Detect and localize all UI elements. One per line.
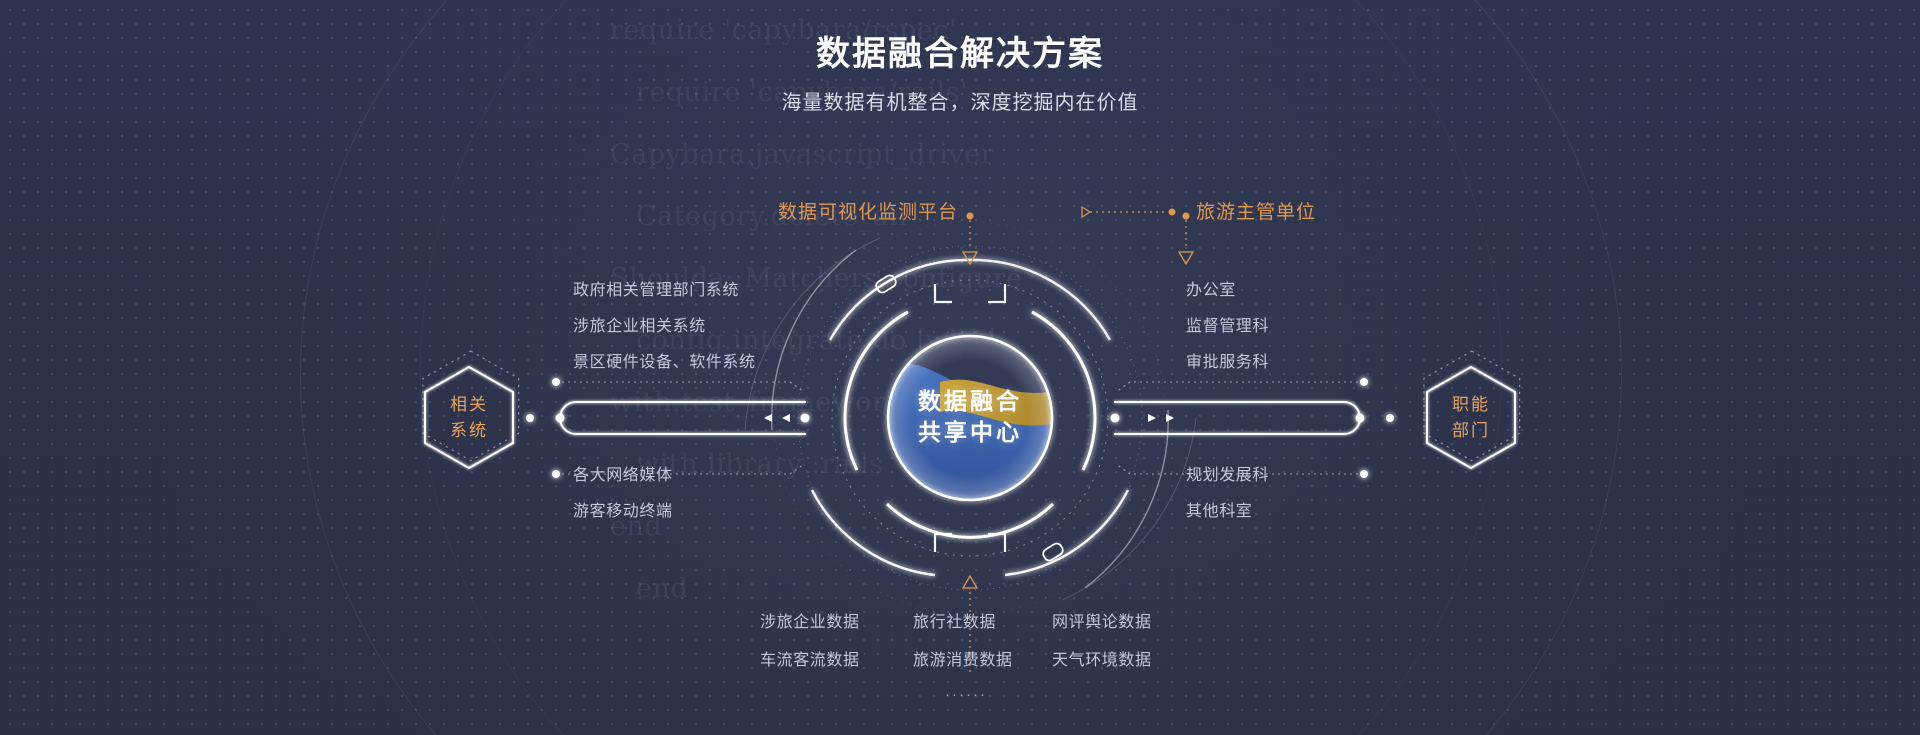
- right-label-0: 办公室: [1186, 283, 1236, 299]
- hexagon-right-line1: 职能: [1411, 392, 1531, 418]
- bottom-label-r2c0: 车流客流数据: [760, 653, 860, 669]
- left-label-3: 各大网络媒体: [573, 468, 673, 484]
- hexagon-left-line2: 系统: [409, 418, 529, 444]
- bottom-label-r1c2: 网评舆论数据: [1052, 615, 1152, 631]
- core-sphere-label: 数据融合 共享中心: [870, 386, 1070, 448]
- right-label-1: 监督管理科: [1186, 319, 1269, 335]
- core-label-line1: 数据融合: [870, 386, 1070, 417]
- right-connector-bus: [1111, 378, 1395, 478]
- right-label-2: 审批服务科: [1186, 355, 1269, 371]
- left-label-0: 政府相关管理部门系统: [573, 283, 739, 299]
- top-orange-connectors: [963, 207, 1193, 264]
- core-label-line2: 共享中心: [870, 417, 1070, 448]
- bottom-label-r2c1: 旅游消费数据: [913, 653, 1013, 669]
- node-visualization-platform[interactable]: 数据可视化监测平台: [778, 203, 958, 222]
- left-label-4: 游客移动终端: [573, 504, 673, 520]
- hexagon-right-line2: 部门: [1411, 418, 1531, 444]
- hexagon-left-label: 相关 系统: [409, 392, 529, 444]
- node-tourism-authority[interactable]: 旅游主管单位: [1196, 203, 1316, 222]
- hexagon-left-line1: 相关: [409, 392, 529, 418]
- right-label-4: 其他科室: [1186, 504, 1252, 520]
- right-label-3: 规划发展科: [1186, 468, 1269, 484]
- left-label-2: 景区硬件设备、软件系统: [573, 355, 756, 371]
- bottom-label-r2c2: 天气环境数据: [1052, 653, 1152, 669]
- bottom-label-r1c0: 涉旅企业数据: [760, 615, 860, 631]
- bottom-ellipsis: ······: [945, 686, 987, 703]
- left-label-1: 涉旅企业相关系统: [573, 319, 706, 335]
- left-connector-bus: [526, 378, 810, 478]
- bottom-label-r1c1: 旅行社数据: [913, 615, 996, 631]
- infographic-canvas: require 'capybara/rspec' require 'capyba…: [0, 0, 1920, 735]
- hexagon-right-label: 职能 部门: [1411, 392, 1531, 444]
